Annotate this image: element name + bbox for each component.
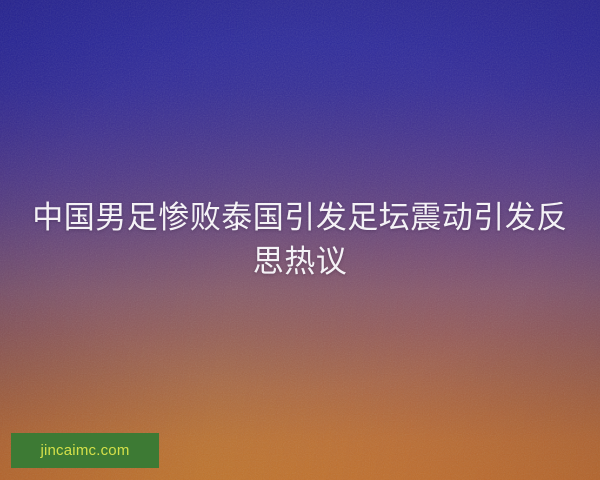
cover-image-canvas: 中国男足惨败泰国引发足坛震动引发反思热议 jincaimc.com (0, 0, 600, 480)
watermark-badge[interactable]: jincaimc.com (11, 433, 159, 468)
page-title: 中国男足惨败泰国引发足坛震动引发反思热议 (24, 196, 576, 284)
title-block: 中国男足惨败泰国引发足坛震动引发反思热议 (0, 196, 600, 284)
watermark-site-label: jincaimc.com (40, 442, 129, 459)
